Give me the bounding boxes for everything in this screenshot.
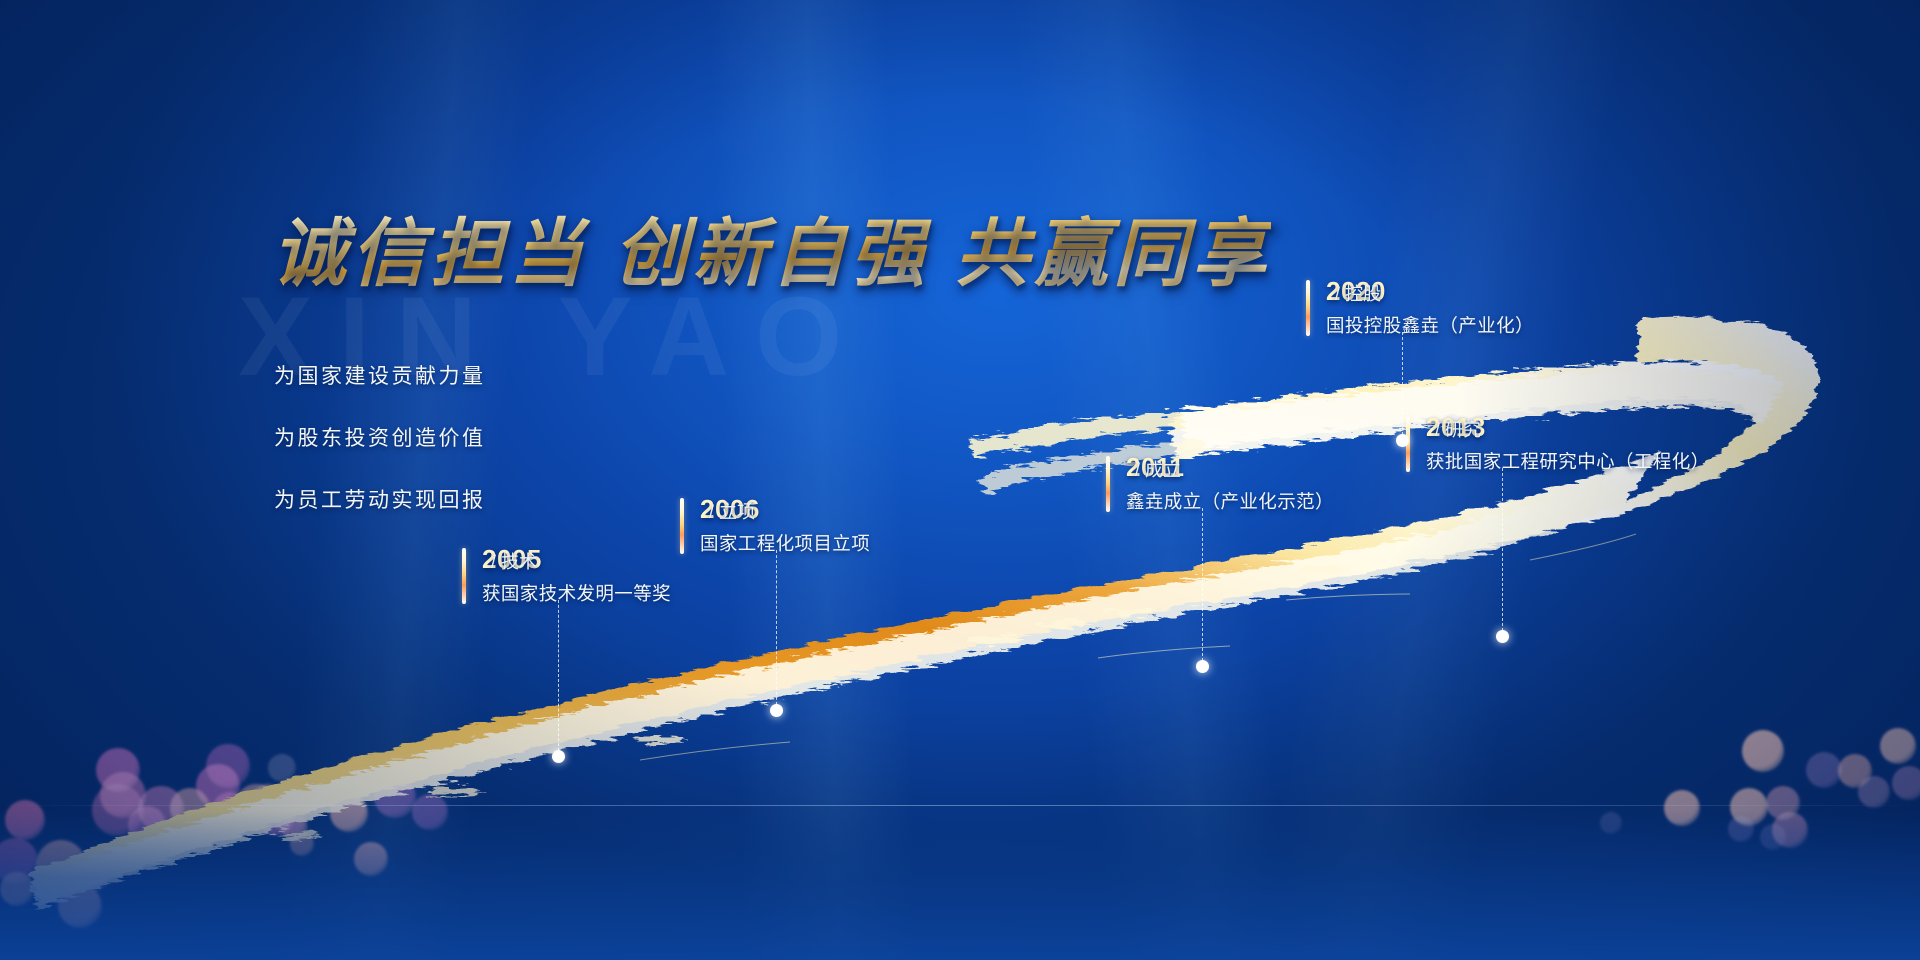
bokeh-circle xyxy=(412,794,448,830)
page-title: 诚信担当 创新自强 共赢同享 xyxy=(272,194,1271,301)
bokeh-circle xyxy=(1838,754,1872,788)
timeline-description: 国投控股鑫垚（产业化） xyxy=(1326,312,1534,338)
bokeh-circle xyxy=(374,776,416,818)
bokeh-circle xyxy=(258,800,294,836)
bokeh-circle xyxy=(276,806,306,836)
timeline-category: / 立项 xyxy=(709,498,755,524)
timeline-accent-bar xyxy=(1306,280,1310,336)
bokeh-circle xyxy=(1664,790,1700,826)
bokeh-circle xyxy=(100,772,146,818)
bokeh-circle xyxy=(1858,776,1890,808)
timeline-marker-dot[interactable] xyxy=(552,750,565,763)
bokeh-circle xyxy=(0,838,38,884)
bokeh-circle xyxy=(1730,788,1768,826)
bokeh-circle xyxy=(236,784,276,824)
brush-stroke-ribbon xyxy=(0,0,1920,960)
timeline-accent-bar xyxy=(462,548,466,604)
timeline-marker-dot[interactable] xyxy=(770,704,783,717)
bokeh-circle xyxy=(96,748,140,792)
bokeh-circle xyxy=(1892,766,1920,800)
bokeh-circle xyxy=(1600,812,1622,834)
bokeh-circle xyxy=(226,796,260,830)
bokeh-circle xyxy=(354,842,388,876)
banner-canvas: XIN YAO 诚信担当 创新自强 共赢同享 为国家建设贡献力量 为股东投资创造… xyxy=(0,0,1920,960)
timeline-category: / 控股 xyxy=(1335,280,1381,306)
bokeh-circle xyxy=(282,816,308,842)
bokeh-circle xyxy=(206,744,250,788)
bokeh-circle xyxy=(268,754,296,782)
timeline-accent-bar xyxy=(1106,456,1110,512)
timeline-leader-line xyxy=(1502,468,1503,636)
bokeh-circle xyxy=(290,832,314,856)
timeline-marker-dot[interactable] xyxy=(1496,630,1509,643)
timeline-marker-dot[interactable] xyxy=(1196,660,1209,673)
timeline-leader-line xyxy=(776,550,777,710)
bokeh-circle xyxy=(170,788,210,828)
bokeh-circle xyxy=(318,768,352,802)
bokeh-circle xyxy=(252,784,284,816)
subtitle-line-3: 为员工劳动实现回报 xyxy=(274,484,486,514)
timeline-category: / 成立 xyxy=(1135,456,1181,482)
bokeh-circle xyxy=(196,764,240,808)
bokeh-circle xyxy=(1742,730,1784,772)
bokeh-circle xyxy=(36,840,86,890)
timeline-category: / 技术 xyxy=(491,548,537,574)
timeline-leader-line xyxy=(1402,332,1403,440)
bokeh-circle xyxy=(0,872,34,906)
bokeh-circle xyxy=(1728,816,1754,842)
timeline-leader-line xyxy=(558,600,559,756)
bokeh-circle xyxy=(330,794,368,832)
timeline-description: 获批国家工程研究中心（工程化） xyxy=(1426,448,1710,474)
bokeh-circle xyxy=(1766,786,1800,820)
bokeh-circle xyxy=(58,884,102,928)
subtitle-line-1: 为国家建设贡献力量 xyxy=(274,360,486,390)
timeline-accent-bar xyxy=(1406,416,1410,472)
bottom-gradient-band xyxy=(0,810,1920,960)
timeline-description: 鑫垚成立（产业化示范） xyxy=(1126,488,1334,514)
vignette-overlay xyxy=(0,0,1920,960)
bokeh-circle xyxy=(128,806,166,844)
timeline-leader-line xyxy=(1202,508,1203,666)
subtitle-line-2: 为股东投资创造价值 xyxy=(274,422,486,452)
horizon-hairline xyxy=(0,805,1920,806)
timeline-category: / 研究 xyxy=(1435,416,1481,442)
bokeh-circle xyxy=(1772,812,1808,848)
bokeh-circle xyxy=(92,784,144,836)
timeline-description: 获国家技术发明一等奖 xyxy=(482,580,671,606)
bokeh-circle xyxy=(5,800,45,840)
bokeh-circle xyxy=(72,852,112,892)
background-light-rays xyxy=(0,0,1920,960)
bokeh-circle xyxy=(138,786,184,832)
bokeh-circle xyxy=(1760,824,1786,850)
timeline-description: 国家工程化项目立项 xyxy=(700,530,870,556)
timeline-accent-bar xyxy=(680,498,684,554)
bokeh-circle xyxy=(1880,728,1916,764)
bokeh-circle xyxy=(212,792,248,828)
bokeh-circle xyxy=(1806,752,1842,788)
